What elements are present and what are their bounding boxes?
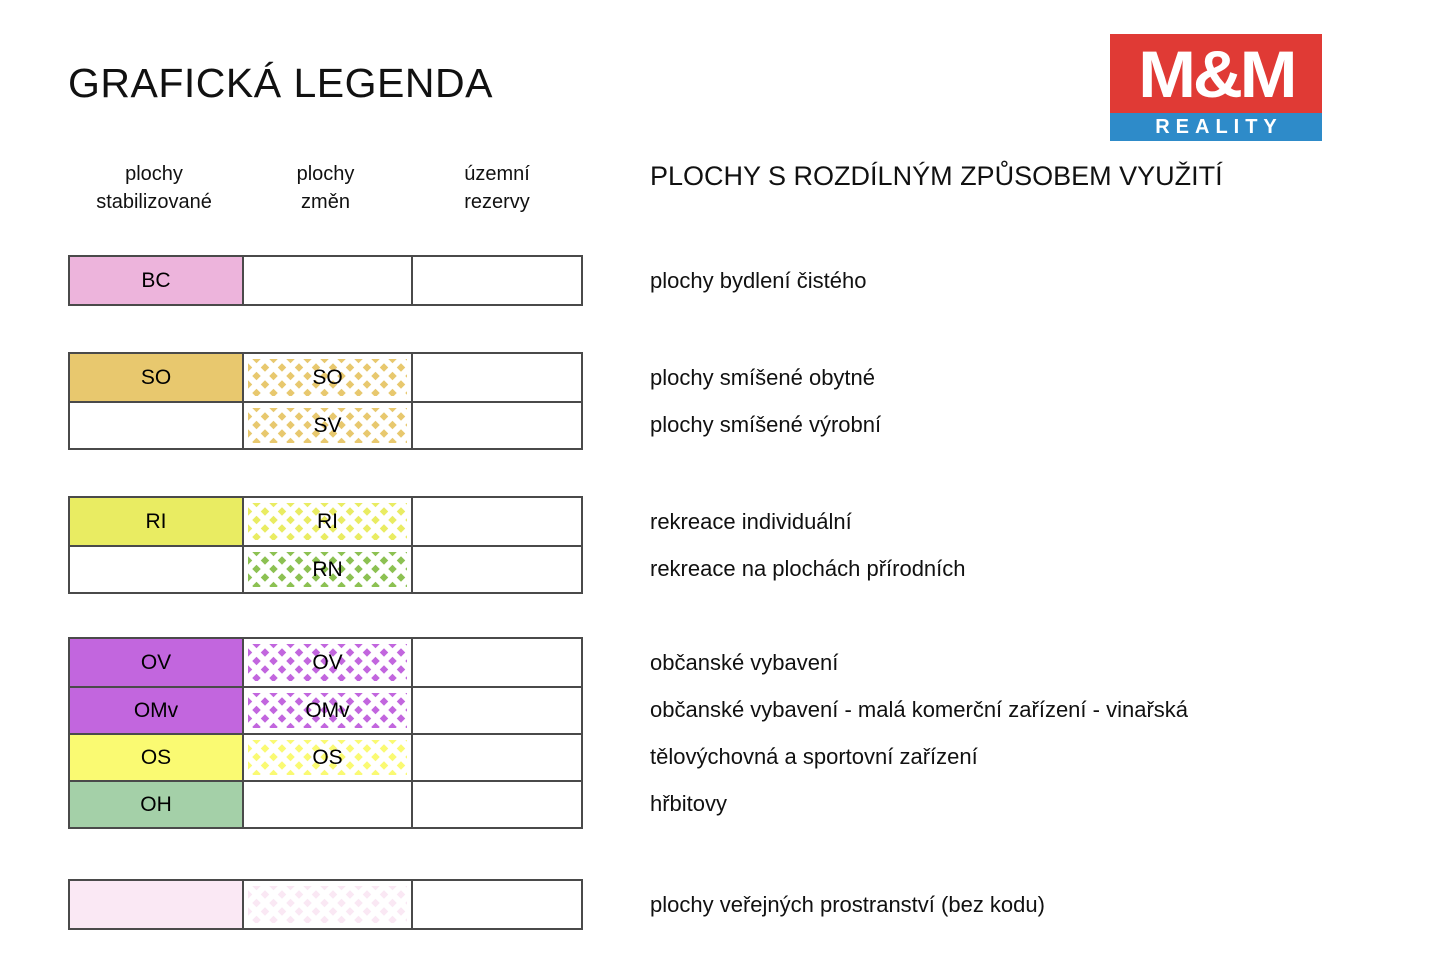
section-heading-areas-by-use: PLOCHY S ROZDÍLNÝM ZPŮSOBEM VYUŽITÍ bbox=[650, 161, 1223, 192]
color-swatch-hatched bbox=[248, 886, 407, 923]
area-description-label: hřbitovy bbox=[650, 791, 727, 817]
color-swatch-solid bbox=[70, 881, 242, 928]
cell-reserves bbox=[413, 354, 581, 401]
area-code-label: RI bbox=[146, 510, 167, 534]
cell-changes: RI bbox=[242, 498, 413, 545]
cell-changes: OS bbox=[242, 735, 413, 780]
logo-blue-block: REALITY bbox=[1110, 113, 1322, 141]
column-header-stabilized: plochy stabilizované bbox=[68, 160, 240, 216]
legend-block bbox=[68, 879, 583, 930]
cell-stabilized bbox=[70, 881, 242, 928]
cell-changes bbox=[242, 881, 413, 928]
cell-reserves bbox=[413, 257, 581, 304]
legend-row: RN bbox=[70, 545, 581, 592]
legend-row: OMvOMv bbox=[70, 686, 581, 733]
area-description-label: rekreace na plochách přírodních bbox=[650, 556, 966, 582]
cell-reserves bbox=[413, 688, 581, 733]
cell-changes: SV bbox=[242, 403, 413, 448]
logo-tagline-text: REALITY bbox=[1149, 117, 1283, 137]
area-code-label: OV bbox=[141, 651, 171, 675]
area-code-label: OS bbox=[312, 746, 342, 770]
area-description-label: občanské vybavení bbox=[650, 650, 838, 676]
cell-stabilized: OV bbox=[70, 639, 242, 686]
cell-reserves bbox=[413, 547, 581, 592]
column-header-reserves: územní rezervy bbox=[411, 160, 583, 216]
legend-block: OVOVOMvOMvOSOSOH bbox=[68, 637, 583, 829]
area-description-label: občanské vybavení - malá komerční zaříze… bbox=[650, 697, 1188, 723]
cell-stabilized: RI bbox=[70, 498, 242, 545]
column-header-stabilized-line2: stabilizované bbox=[68, 188, 240, 216]
legend-row: RIRI bbox=[70, 498, 581, 545]
area-code-label: RI bbox=[317, 510, 338, 534]
area-code-label: OV bbox=[312, 651, 342, 675]
legend-row: OVOV bbox=[70, 639, 581, 686]
cell-reserves bbox=[413, 881, 581, 928]
cell-changes: SO bbox=[242, 354, 413, 401]
brand-logo-mm-reality: M&M REALITY bbox=[1110, 34, 1322, 141]
legend-row: BC bbox=[70, 257, 581, 304]
area-code-label: OS bbox=[141, 746, 171, 770]
cell-stabilized: OS bbox=[70, 735, 242, 780]
legend-row: SV bbox=[70, 401, 581, 448]
area-code-label: SV bbox=[313, 414, 341, 438]
column-header-changes: plochy změn bbox=[240, 160, 411, 216]
cell-stabilized: OH bbox=[70, 782, 242, 827]
cell-changes: RN bbox=[242, 547, 413, 592]
area-description-label: plochy smíšené obytné bbox=[650, 365, 875, 391]
cell-stabilized: OMv bbox=[70, 688, 242, 733]
column-header-stabilized-line1: plochy bbox=[68, 160, 240, 188]
cell-reserves bbox=[413, 403, 581, 448]
legend-row: OH bbox=[70, 780, 581, 827]
column-header-reserves-line2: rezervy bbox=[411, 188, 583, 216]
cell-changes bbox=[242, 782, 413, 827]
area-description-label: plochy smíšené výrobní bbox=[650, 412, 881, 438]
legend-row: SOSO bbox=[70, 354, 581, 401]
cell-changes: OMv bbox=[242, 688, 413, 733]
legend-block: BC bbox=[68, 255, 583, 306]
cell-stabilized: SO bbox=[70, 354, 242, 401]
area-description-label: plochy bydlení čistého bbox=[650, 268, 866, 294]
cell-reserves bbox=[413, 735, 581, 780]
cell-stabilized bbox=[70, 547, 242, 592]
logo-red-block: M&M bbox=[1110, 34, 1322, 113]
area-description-label: rekreace individuální bbox=[650, 509, 852, 535]
area-code-label: SO bbox=[312, 366, 342, 390]
logo-brand-text: M&M bbox=[1138, 41, 1294, 107]
cell-stabilized bbox=[70, 403, 242, 448]
area-code-label: OH bbox=[140, 793, 172, 817]
area-code-label: OMv bbox=[305, 699, 349, 723]
cell-reserves bbox=[413, 782, 581, 827]
cell-reserves bbox=[413, 498, 581, 545]
area-description-label: plochy veřejných prostranství (bez kodu) bbox=[650, 892, 1045, 918]
column-header-changes-line2: změn bbox=[240, 188, 411, 216]
legend-block: RIRIRN bbox=[68, 496, 583, 594]
legend-row bbox=[70, 881, 581, 928]
cell-changes: OV bbox=[242, 639, 413, 686]
area-code-label: SO bbox=[141, 366, 171, 390]
column-header-changes-line1: plochy bbox=[240, 160, 411, 188]
cell-reserves bbox=[413, 639, 581, 686]
area-description-label: tělovýchovná a sportovní zařízení bbox=[650, 744, 978, 770]
area-code-label: BC bbox=[141, 269, 170, 293]
legend-block: SOSOSV bbox=[68, 352, 583, 450]
cell-stabilized: BC bbox=[70, 257, 242, 304]
area-code-label: RN bbox=[312, 558, 342, 582]
legend-row: OSOS bbox=[70, 733, 581, 780]
cell-changes bbox=[242, 257, 413, 304]
area-code-label: OMv bbox=[134, 699, 178, 723]
column-header-reserves-line1: územní bbox=[411, 160, 583, 188]
page-title: GRAFICKÁ LEGENDA bbox=[68, 60, 493, 107]
